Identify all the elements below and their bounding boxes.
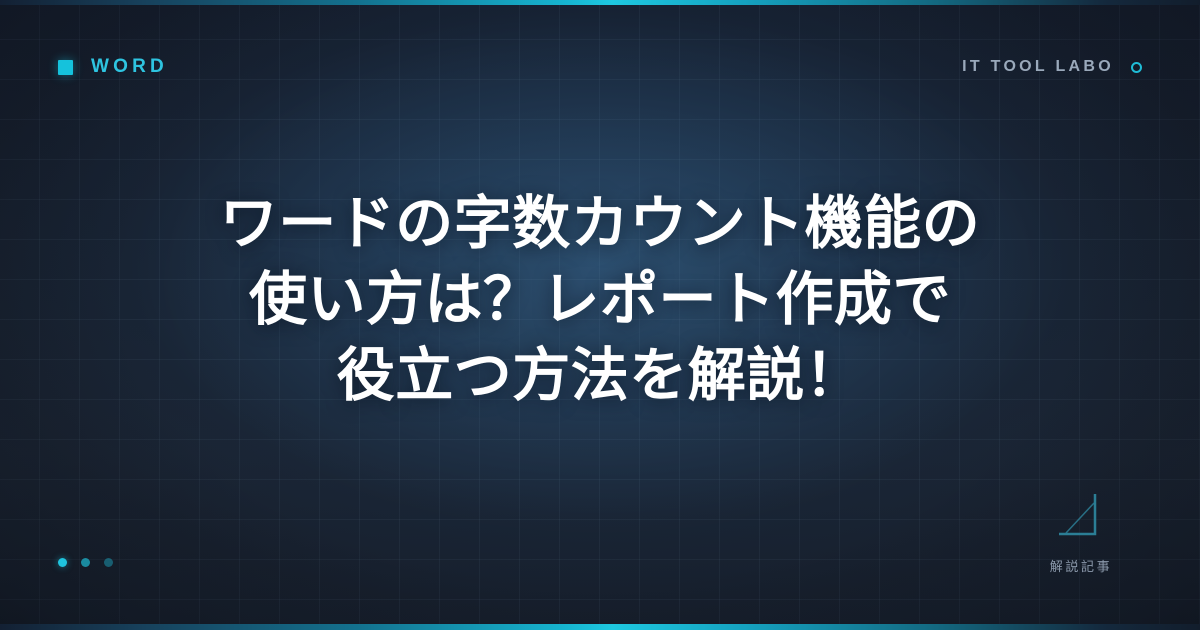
square-icon bbox=[58, 60, 73, 75]
corner-bracket-diagonal-icon bbox=[1053, 492, 1109, 542]
decorative-dots bbox=[58, 558, 113, 567]
circle-outline-icon bbox=[1131, 62, 1142, 73]
dot-2 bbox=[81, 558, 90, 567]
top-accent-bar bbox=[0, 0, 1200, 5]
article-type-badge: 解説記事 bbox=[1020, 492, 1142, 575]
header: WORD IT TOOL LABO bbox=[0, 52, 1200, 82]
title-line-2: 使い方は？レポート作成で bbox=[0, 262, 1200, 338]
logo: WORD bbox=[58, 56, 168, 78]
title-line-3: 役立つ方法を解説！ bbox=[0, 338, 1200, 414]
brand: IT TOOL LABO bbox=[962, 58, 1142, 76]
page-title: ワードの字数カウント機能の 使い方は？レポート作成で 役立つ方法を解説！ bbox=[0, 186, 1200, 414]
logo-label: WORD bbox=[91, 56, 168, 78]
badge-label: 解説記事 bbox=[1020, 556, 1142, 575]
title-line-1: ワードの字数カウント機能の bbox=[0, 186, 1200, 262]
dot-1 bbox=[58, 558, 67, 567]
brand-label: IT TOOL LABO bbox=[962, 58, 1114, 76]
bottom-accent-bar bbox=[0, 624, 1200, 630]
og-image-card: WORD IT TOOL LABO ワードの字数カウント機能の 使い方は？レポー… bbox=[0, 0, 1200, 630]
dot-3 bbox=[104, 558, 113, 567]
